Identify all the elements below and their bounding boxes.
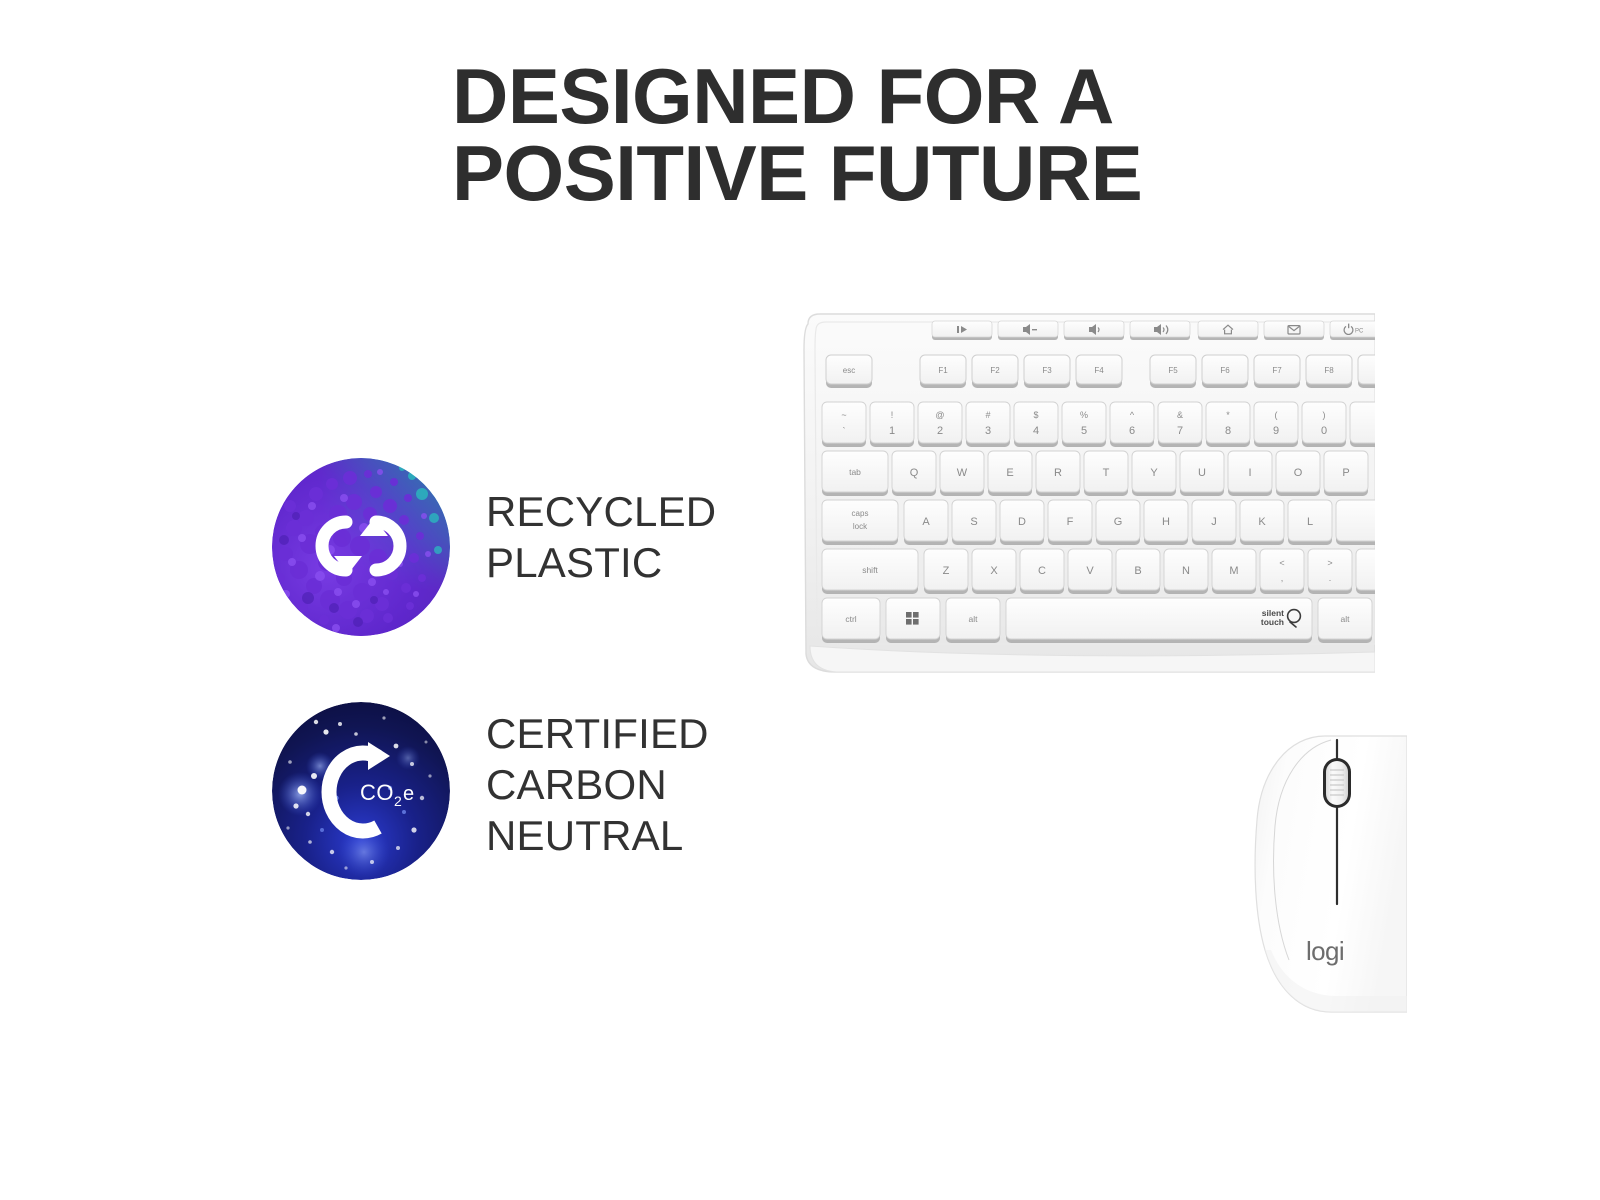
key-t[interactable]: T [1084,451,1128,496]
key-f6[interactable]: F6 [1202,355,1248,388]
svg-text:A: A [922,516,930,528]
key-f1[interactable]: F1 [920,355,966,388]
svg-text:F7: F7 [1272,366,1282,375]
key-caps-lock[interactable]: caps lock [822,500,898,545]
home-key[interactable] [1198,321,1258,340]
key-h[interactable]: H [1144,500,1188,545]
key-3[interactable]: # 3 [966,402,1010,447]
svg-text:F5: F5 [1168,366,1178,375]
key-p[interactable]: P [1324,451,1368,496]
key-6[interactable]: ^ 6 [1110,402,1154,447]
svg-text:3: 3 [985,425,991,437]
key-n[interactable]: N [1164,549,1208,594]
key-q[interactable]: Q [892,451,936,496]
marketing-image: DESIGNED FOR A POSITIVE FUTURE [0,0,1600,1200]
keyboard-number-row: ~ ` ! 1 @ 2 # [822,402,1375,447]
svg-text:,: , [1281,573,1284,583]
svg-text:G: G [1114,516,1123,528]
key-8[interactable]: * 8 [1206,402,1250,447]
key-minus-partial[interactable] [1350,402,1375,447]
key-tab[interactable]: tab [822,451,888,496]
key-period[interactable]: > . [1308,549,1352,594]
svg-text:K: K [1258,516,1266,528]
svg-text:CO: CO [360,780,394,805]
key-m[interactable]: M [1212,549,1256,594]
svg-text:alt: alt [1341,614,1351,624]
key-f8[interactable]: F8 [1306,355,1352,388]
svg-text:(: ( [1275,410,1278,420]
svg-text:V: V [1086,565,1094,577]
volume-down-key[interactable] [1064,321,1124,340]
svg-text:C: C [1038,565,1046,577]
svg-text:E: E [1006,467,1013,479]
keyboard-shift-row: shift Z X C [822,549,1375,594]
svg-text:%: % [1080,410,1088,420]
svg-text:2: 2 [394,793,402,809]
svg-text:lock: lock [853,522,868,531]
svg-text:X: X [990,565,998,577]
svg-text:9: 9 [1273,425,1279,437]
svg-text:~: ~ [841,410,846,420]
key-w[interactable]: W [940,451,984,496]
keyboard-qwerty-row: tab Q W E [822,451,1368,496]
svg-text:R: R [1054,467,1062,479]
mute-key[interactable] [998,321,1058,340]
svg-text:Y: Y [1150,467,1158,479]
svg-text:F4: F4 [1094,366,1104,375]
key-c[interactable]: C [1020,549,1064,594]
key-k[interactable]: K [1240,500,1284,545]
svg-text:Z: Z [943,565,950,577]
svg-text:alt: alt [969,614,979,624]
key-alt-right[interactable]: alt [1318,598,1372,643]
recycled-plastic-badge-icon [272,458,450,636]
svg-text:S: S [970,516,977,528]
svg-text:$: $ [1033,410,1038,420]
svg-text:F3: F3 [1042,366,1052,375]
key-f4[interactable]: F4 [1076,355,1122,388]
keyboard-home-row: caps lock A S D [822,500,1375,545]
svg-text:5: 5 [1081,425,1087,437]
feature-label-certified-carbon-neutral: CERTIFIED CARBON NEUTRAL [486,702,709,862]
key-i[interactable]: I [1228,451,1272,496]
keyboard-modifier-row: ctrl alt [822,598,1372,643]
key-x[interactable]: X [972,549,1016,594]
svg-text:caps: caps [852,509,869,518]
svg-text:e: e [403,783,414,805]
svg-text:F1: F1 [938,366,948,375]
key-s[interactable]: S [952,500,996,545]
key-shift-left[interactable]: shift [822,549,918,594]
key-f2[interactable]: F2 [972,355,1018,388]
key-0[interactable]: ) 0 [1302,402,1346,447]
svg-text:8: 8 [1225,425,1231,437]
page-title: DESIGNED FOR A POSITIVE FUTURE [452,58,1212,212]
svg-text:L: L [1307,516,1313,528]
key-4[interactable]: $ 4 [1014,402,1058,447]
svg-text:O: O [1294,467,1303,479]
svg-text:W: W [957,467,968,479]
key-backtick[interactable]: ~ ` [822,402,866,447]
svg-text:*: * [1226,410,1230,420]
feature-recycled-plastic: RECYCLED PLASTIC [272,458,716,636]
svg-text:1: 1 [889,425,895,437]
svg-text:F8: F8 [1324,366,1334,375]
key-l[interactable]: L [1288,500,1332,545]
svg-text:D: D [1018,516,1026,528]
key-5[interactable]: % 5 [1062,402,1106,447]
key-ctrl[interactable]: ctrl [822,598,880,643]
svg-text:logi: logi [1306,936,1344,966]
svg-text:ctrl: ctrl [845,614,856,624]
key-a[interactable]: A [904,500,948,545]
wireless-keyboard: PC esc F1 F2 [800,310,1375,680]
svg-text:U: U [1198,467,1206,479]
svg-text:esc: esc [843,366,855,375]
svg-text:J: J [1211,516,1217,528]
power-pc-key[interactable]: PC [1330,321,1375,340]
svg-text:@: @ [935,410,944,420]
key-semicolon-partial[interactable] [1336,500,1375,545]
key-d[interactable]: D [1000,500,1044,545]
key-e[interactable]: E [988,451,1032,496]
svg-text:touch: touch [1261,617,1284,627]
key-space[interactable]: silent touch [1006,598,1312,643]
key-r[interactable]: R [1036,451,1080,496]
key-z[interactable]: Z [924,549,968,594]
key-comma[interactable]: < , [1260,549,1304,594]
key-f7[interactable]: F7 [1254,355,1300,388]
key-u[interactable]: U [1180,451,1224,496]
svg-text:4: 4 [1033,425,1039,437]
feature-label-recycled-plastic: RECYCLED PLASTIC [486,458,716,588]
svg-text:P: P [1342,467,1349,479]
key-7[interactable]: & 7 [1158,402,1202,447]
svg-text:PC: PC [1355,328,1364,334]
key-v[interactable]: V [1068,549,1112,594]
feature-certified-carbon-neutral: CO 2 e CERTIFIED CARBON NEUTRAL [272,702,709,880]
svg-text:6: 6 [1129,425,1135,437]
key-9[interactable]: ( 9 [1254,402,1298,447]
svg-text:Q: Q [910,467,919,479]
key-o[interactable]: O [1276,451,1320,496]
play-pause-key[interactable] [932,321,992,340]
key-2[interactable]: @ 2 [918,402,962,447]
carbon-neutral-badge-icon: CO 2 e [272,702,450,880]
svg-text:M: M [1229,565,1238,577]
key-f5[interactable]: F5 [1150,355,1196,388]
svg-text:tab: tab [849,467,861,477]
svg-text:7: 7 [1177,425,1183,437]
volume-up-key[interactable] [1130,321,1190,340]
svg-text:>: > [1327,558,1332,568]
key-1[interactable]: ! 1 [870,402,914,447]
key-b[interactable]: B [1116,549,1160,594]
svg-text:#: # [985,410,990,420]
svg-text:N: N [1182,565,1190,577]
svg-text:`: ` [843,426,846,436]
key-j[interactable]: J [1192,500,1236,545]
svg-text:I: I [1248,467,1251,479]
svg-text:shift: shift [862,565,878,575]
svg-text:<: < [1279,558,1284,568]
logi-logo: logi [1306,936,1344,966]
key-windows[interactable] [886,598,940,643]
key-esc[interactable]: esc [826,355,872,388]
key-alt-left[interactable]: alt [946,598,1000,643]
svg-text:&: & [1177,410,1183,420]
svg-text:!: ! [891,410,894,420]
svg-text:B: B [1134,565,1141,577]
keyboard-media-row: PC [932,321,1375,340]
key-f3[interactable]: F3 [1024,355,1070,388]
svg-text:): ) [1323,410,1326,420]
svg-text:T: T [1103,467,1110,479]
scroll-wheel[interactable] [1326,761,1348,805]
svg-text:H: H [1162,516,1170,528]
svg-text:F: F [1067,516,1074,528]
mail-key[interactable] [1264,321,1324,340]
key-g[interactable]: G [1096,500,1140,545]
key-f9-partial[interactable] [1358,355,1375,388]
wireless-mouse: logi [1245,728,1407,1020]
key-slash-partial[interactable] [1356,549,1375,594]
key-y[interactable]: Y [1132,451,1176,496]
svg-text:2: 2 [937,425,943,437]
svg-text:.: . [1329,573,1332,583]
svg-text:F2: F2 [990,366,1000,375]
key-f[interactable]: F [1048,500,1092,545]
svg-text:F6: F6 [1220,366,1230,375]
svg-text:0: 0 [1321,425,1327,437]
